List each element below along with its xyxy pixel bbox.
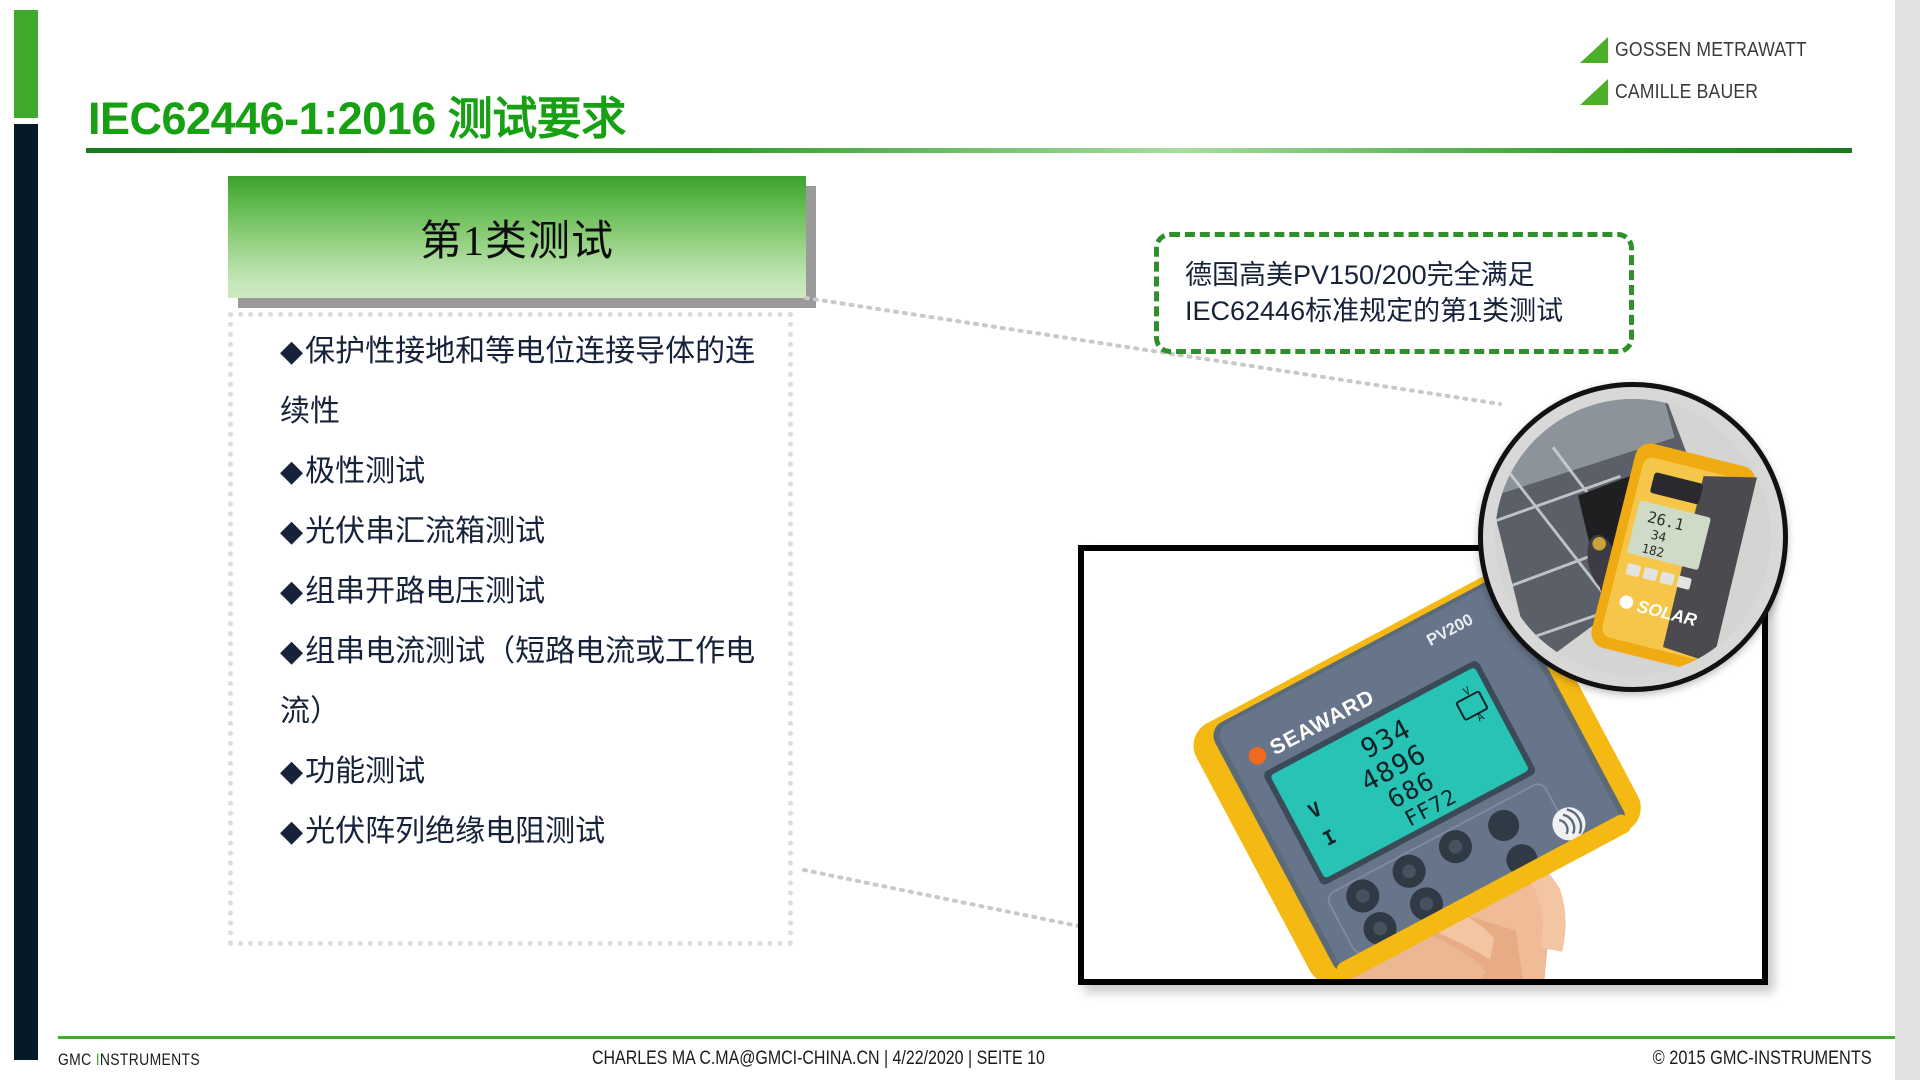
- diamond-bullet-icon: ◆: [280, 635, 303, 668]
- connector-line-bottom: [800, 790, 1100, 990]
- left-accent-bar-dark: [14, 124, 38, 1060]
- solar-survey-meter-illustration: 26.1 34 182 SOLAR: [1495, 399, 1771, 675]
- diamond-bullet-icon: ◆: [280, 575, 303, 608]
- bullet-list: ◆保护性接地和等电位连接导体的连续性 ◆极性测试 ◆光伏串汇流箱测试 ◆组串开路…: [280, 322, 780, 862]
- logo-gossen-metrawatt: GOSSEN METRAWATT: [1580, 32, 1840, 68]
- category-box-fill: 第1类测试: [228, 176, 806, 298]
- list-item: ◆极性测试: [280, 442, 780, 502]
- logo-camille-bauer-label: CAMILLE BAUER: [1615, 81, 1758, 104]
- category-heading-box: 第1类测试: [228, 176, 806, 298]
- diamond-bullet-icon: ◆: [280, 755, 303, 788]
- brand-logo-group: GOSSEN METRAWATT CAMILLE BAUER: [1580, 32, 1840, 116]
- logo-camille-bauer: CAMILLE BAUER: [1580, 74, 1840, 110]
- green-triangle-icon: [1580, 79, 1608, 105]
- footer-brand-prefix: GMC: [58, 1050, 96, 1069]
- list-item-label: 组串电流测试（短路电流或工作电流）: [280, 635, 755, 728]
- list-item: ◆光伏阵列绝缘电阻测试: [280, 802, 780, 862]
- title-underline-rule: [86, 148, 1852, 153]
- diamond-bullet-icon: ◆: [280, 515, 303, 548]
- logo-gossen-metrawatt-label: GOSSEN METRAWATT: [1615, 39, 1807, 62]
- diamond-bullet-icon: ◆: [280, 455, 303, 488]
- list-item-label: 极性测试: [305, 455, 425, 488]
- diamond-bullet-icon: ◆: [280, 815, 303, 848]
- product-photo-inset: 26.1 34 182 SOLAR: [1478, 382, 1788, 692]
- list-item: ◆保护性接地和等电位连接导体的连续性: [280, 322, 780, 442]
- diamond-bullet-icon: ◆: [280, 335, 303, 368]
- callout-line-2: IEC62446标准规定的第1类测试: [1185, 293, 1629, 329]
- list-item-label: 功能测试: [305, 755, 425, 788]
- list-item: ◆组串开路电压测试: [280, 562, 780, 622]
- callout-box: 德国高美PV150/200完全满足 IEC62446标准规定的第1类测试: [1154, 232, 1634, 354]
- footer-copyright: © 2015 GMC-INSTRUMENTS: [1653, 1048, 1872, 1070]
- list-item: ◆光伏串汇流箱测试: [280, 502, 780, 562]
- left-accent-bar-green: [14, 10, 38, 118]
- footer-brand: GMC INSTRUMENTS: [58, 1050, 200, 1070]
- callout-line-1: 德国高美PV150/200完全满足: [1185, 257, 1629, 293]
- list-item-label: 光伏阵列绝缘电阻测试: [305, 815, 605, 848]
- category-box-label: 第1类测试: [420, 207, 614, 268]
- footer-meta: CHARLES MA C.MA@GMCI-CHINA.CN | 4/22/202…: [592, 1048, 1045, 1070]
- list-item-label: 光伏串汇流箱测试: [305, 515, 545, 548]
- list-item-label: 组串开路电压测试: [305, 575, 545, 608]
- green-triangle-icon: [1580, 37, 1608, 63]
- footer-rule: [58, 1036, 1895, 1039]
- page-edge-strip: [1895, 0, 1920, 1080]
- list-item: ◆功能测试: [280, 742, 780, 802]
- inset-photo-ring: 26.1 34 182 SOLAR: [1495, 399, 1771, 675]
- footer-brand-suffix: NSTRUMENTS: [100, 1050, 200, 1069]
- list-item-label: 保护性接地和等电位连接导体的连续性: [280, 335, 755, 428]
- page-title: IEC62446-1:2016 测试要求: [88, 82, 626, 147]
- list-item: ◆组串电流测试（短路电流或工作电流）: [280, 622, 780, 742]
